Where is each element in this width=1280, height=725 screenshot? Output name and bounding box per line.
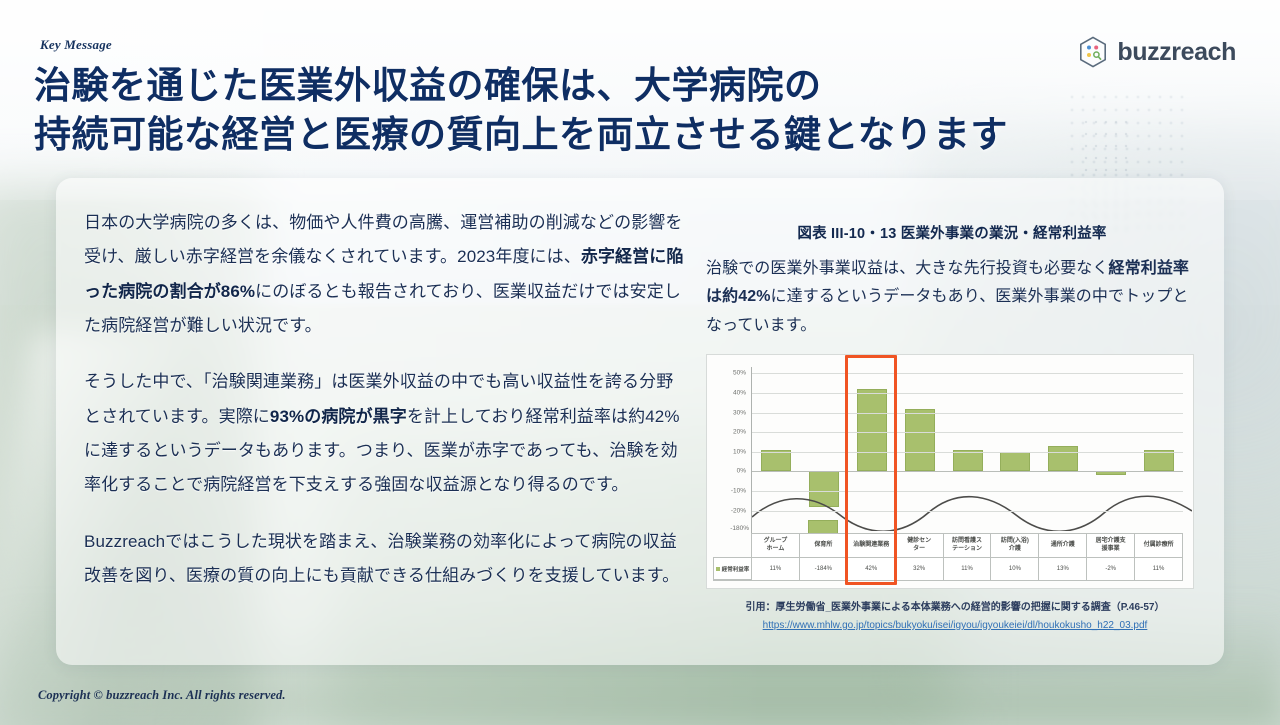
right-figure-column: 図表 III-10・13 医業外事業の業況・経常利益率 治験での医業外事業収益は… bbox=[706, 222, 1198, 589]
chart-container: 50%40%30%20%10%0%-10%-20% -180% 経常利益率 グル… bbox=[706, 354, 1194, 589]
chart-bar bbox=[1144, 450, 1174, 472]
body-text: Buzzreachではこうした現状を踏まえ、治験業務の効率化によって病院の収益改… bbox=[84, 532, 679, 585]
chart-y-tick: 40% bbox=[733, 390, 746, 397]
chart-table-value: 13% bbox=[1039, 558, 1087, 581]
figure-lead-text: 治験での医業外事業収益は、大きな先行投資も必要なく経常利益率は約42%に達すると… bbox=[706, 255, 1198, 340]
headline-line-1: 治験を通じた医業外収益の確保は、大学病院の bbox=[34, 62, 1054, 111]
chart-table-header-row: グループホーム保育所治験関連業務健診センター訪問看護ステーション訪問(入浴)介護… bbox=[752, 534, 1182, 557]
chart-plot-area bbox=[751, 367, 1183, 539]
chart-bar bbox=[1000, 452, 1030, 472]
chart-y-tick: 20% bbox=[733, 429, 746, 436]
chart-zero-line bbox=[752, 471, 1183, 472]
paragraph-2: そうした中で、「治験関連業務」は医業外収益の中でも高い収益性を誇る分野とされてい… bbox=[84, 365, 684, 502]
chart-table-value: -184% bbox=[800, 558, 848, 581]
chart-bar bbox=[761, 450, 791, 472]
chart-y-tick: -20% bbox=[731, 507, 746, 514]
chart-gridline bbox=[752, 452, 1183, 453]
chart-y-tick: -10% bbox=[731, 488, 746, 495]
chart-bar bbox=[953, 450, 983, 472]
chart-table-category: 通所介護 bbox=[1039, 534, 1087, 557]
paragraph-1: 日本の大学病院の多くは、物価や人件費の高騰、運営補助の削減などの影響を受け、厳し… bbox=[84, 206, 684, 343]
legend-swatch-icon bbox=[716, 567, 720, 571]
paragraph-3: Buzzreachではこうした現状を踏まえ、治験業務の効率化によって病院の収益改… bbox=[84, 525, 684, 594]
emphasis-text: 93%の病院が黒字 bbox=[270, 407, 407, 426]
chart-table-bottom-border bbox=[713, 580, 1183, 581]
body-text: 治験での医業外事業収益は、大きな先行投資も必要なく bbox=[706, 260, 1109, 277]
chart-bar bbox=[1048, 446, 1078, 471]
chart-gridline bbox=[752, 491, 1183, 492]
chart-gridline bbox=[752, 511, 1183, 512]
chart-y-tick: 30% bbox=[733, 409, 746, 416]
chart-y-tick-min: -180% bbox=[713, 525, 749, 532]
buzzreach-wordmark: buzzreach bbox=[1117, 38, 1236, 67]
legend-label: 経常利益率 bbox=[722, 565, 750, 573]
buzzreach-hexagon-icon bbox=[1078, 36, 1108, 68]
left-text-column: 日本の大学病院の多くは、物価や人件費の高騰、運営補助の削減などの影響を受け、厳し… bbox=[84, 206, 684, 593]
chart-y-axis: 50%40%30%20%10%0%-10%-20% bbox=[713, 367, 749, 539]
chart-gridline bbox=[752, 413, 1183, 414]
chart-legend: 経常利益率 bbox=[713, 557, 751, 580]
chart-bar-overflow-stub bbox=[808, 520, 838, 534]
chart-gridline bbox=[752, 393, 1183, 394]
chart-table-category: 付属診療所 bbox=[1135, 534, 1182, 557]
body-text: に達するというデータもあり、医業外事業の中でトップとなっています。 bbox=[706, 288, 1189, 333]
chart-gridline bbox=[752, 373, 1183, 374]
chart-table-category: 訪問看護ステーション bbox=[944, 534, 992, 557]
buzzreach-logo: buzzreach bbox=[1078, 36, 1236, 68]
chart-table-category: グループホーム bbox=[752, 534, 800, 557]
page-title: 治験を通じた医業外収益の確保は、大学病院の 持続可能な経営と医療の質向上を両立さ… bbox=[34, 62, 1054, 160]
chart-table-value-row: 11%-184%42%32%11%10%13%-2%11% bbox=[752, 557, 1182, 581]
headline-line-2: 持続可能な経営と医療の質向上を両立させる鍵となります bbox=[34, 111, 1054, 160]
chart-table-value: 10% bbox=[991, 558, 1039, 581]
chart-table-value: 11% bbox=[944, 558, 992, 581]
key-message-eyebrow: Key Message bbox=[40, 37, 112, 53]
chart-table-value: -2% bbox=[1087, 558, 1135, 581]
chart-y-tick: 10% bbox=[733, 448, 746, 455]
chart-table-value: 11% bbox=[1135, 558, 1182, 581]
chart-y-tick: 50% bbox=[733, 370, 746, 377]
chart-table-value: 32% bbox=[896, 558, 944, 581]
chart-table-category: 居宅介護支援事業 bbox=[1087, 534, 1135, 557]
citation-block: 引用：厚生労働省_医業外事業による本体業務への経営的影響の把握に関する調査（P.… bbox=[710, 600, 1200, 633]
copyright-footer: Copyright © buzzreach Inc. All rights re… bbox=[38, 688, 286, 703]
citation-link[interactable]: https://www.mhlw.go.jp/topics/bukyoku/is… bbox=[763, 618, 1148, 633]
figure-title: 図表 III-10・13 医業外事業の業況・経常利益率 bbox=[706, 222, 1198, 243]
chart-table-category: 保育所 bbox=[800, 534, 848, 557]
chart-bar bbox=[905, 409, 935, 472]
chart-inner: 50%40%30%20%10%0%-10%-20% -180% 経常利益率 グル… bbox=[713, 361, 1187, 582]
citation-source: 引用：厚生労働省_医業外事業による本体業務への経営的影響の把握に関する調査（P.… bbox=[710, 600, 1200, 615]
highlight-box-clinical-trials bbox=[845, 355, 897, 585]
chart-table-category: 健診センター bbox=[896, 534, 944, 557]
chart-table-value: 11% bbox=[752, 558, 800, 581]
chart-table-category: 訪問(入浴)介護 bbox=[991, 534, 1039, 557]
chart-y-tick: 0% bbox=[737, 468, 746, 475]
chart-data-table: グループホーム保育所治験関連業務健診センター訪問看護ステーション訪問(入浴)介護… bbox=[751, 533, 1183, 580]
chart-gridline bbox=[752, 432, 1183, 433]
